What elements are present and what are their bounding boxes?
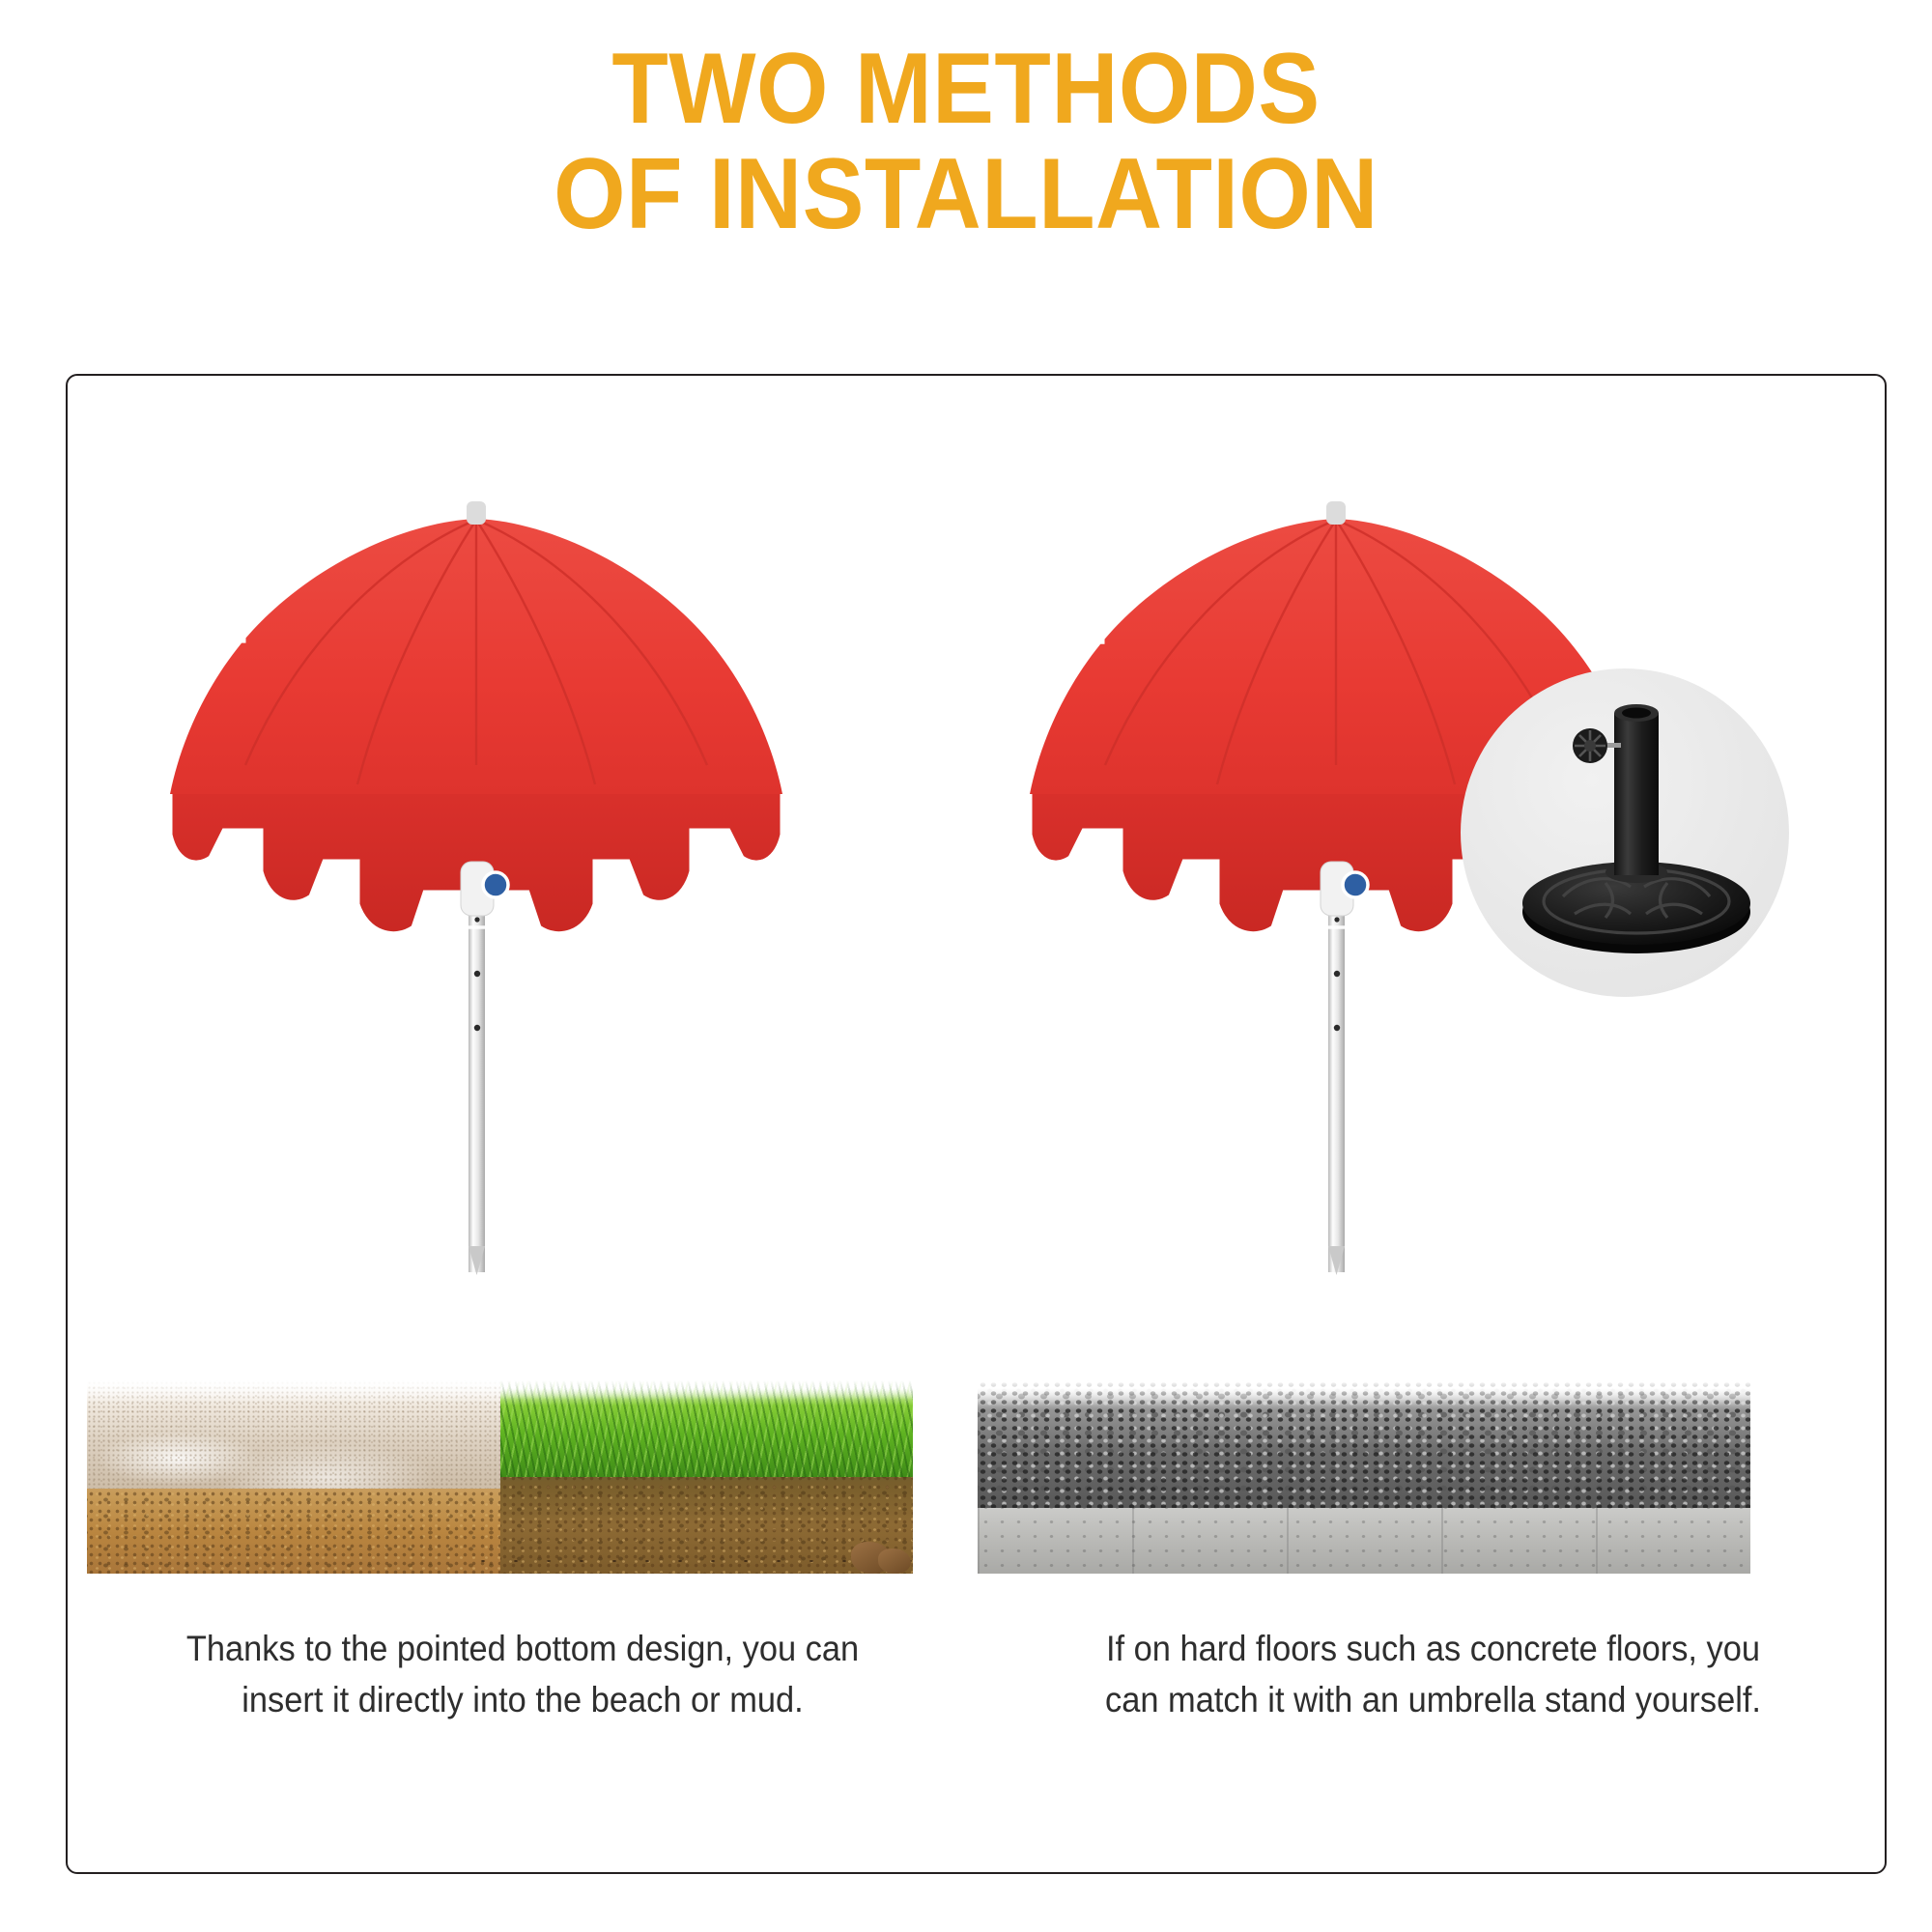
page-title-line-2: OF INSTALLATION [77,142,1855,247]
umbrella-stand-inset [1461,668,1789,997]
beach-umbrella-left [118,475,833,1277]
caption-line-1: Thanks to the pointed bottom design, you… [99,1624,946,1675]
page-title: TWO METHODS OF INSTALLATION [0,37,1932,247]
method-ground-caption: Thanks to the pointed bottom design, you… [99,1624,946,1725]
umbrella-stand [1461,668,1789,997]
caption-line-2: insert it directly into the beach or mud… [99,1675,946,1726]
method-hard-floor-caption: If on hard floors such as concrete floor… [1009,1624,1857,1725]
page-title-line-1: TWO METHODS [77,37,1855,142]
content-panel: Thanks to the pointed bottom design, you… [66,374,1887,1874]
rock [878,1548,911,1574]
umbrella-finial [1326,501,1346,525]
soil-debris [467,1554,913,1574]
caption-line-2: can match it with an umbrella stand your… [1009,1675,1857,1726]
surface-sand-and-soil [87,1380,913,1574]
surface-gravel-concrete [978,1380,1750,1574]
method-hard-floor-column: If on hard floors such as concrete floor… [978,376,1889,1872]
thumb-screw-knob [1573,728,1621,763]
umbrella-finial [467,501,486,525]
stand-upright-tube [1614,713,1659,875]
caption-line-1: If on hard floors such as concrete floor… [1009,1624,1857,1675]
method-ground-column: Thanks to the pointed bottom design, you… [68,376,978,1872]
